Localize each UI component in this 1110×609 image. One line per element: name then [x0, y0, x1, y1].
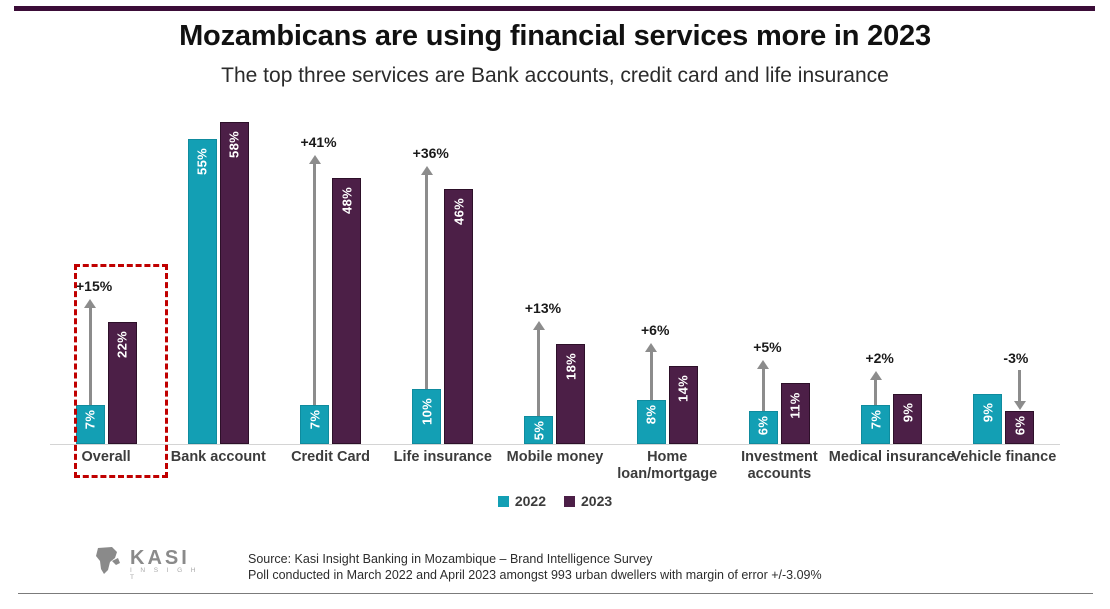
bar-value-label: 18% [563, 353, 578, 380]
bar-value-label: 10% [419, 398, 434, 425]
bar-group: 9%6%-3% [948, 100, 1060, 444]
bar-value-label: 6% [756, 416, 771, 435]
bar-value-label: 7% [83, 410, 98, 429]
bar-value-label: 5% [531, 421, 546, 440]
delta-arrow-shaft [1018, 370, 1021, 401]
bar-group: 55%58% [162, 100, 274, 444]
bar-group: 7%48%+41% [274, 100, 386, 444]
bar-2022[interactable]: 5% [524, 416, 553, 444]
bar-value-label: 58% [227, 131, 242, 158]
delta-arrow-shaft [537, 330, 540, 416]
delta-arrow-head [84, 299, 96, 308]
delta-arrow-shaft [874, 380, 877, 405]
legend-item-2022[interactable]: 2022 [498, 493, 546, 509]
bar-value-label: 14% [676, 375, 691, 402]
bar-value-label: 22% [115, 331, 130, 358]
bar-2022[interactable]: 55% [188, 139, 217, 444]
delta-label: +13% [487, 300, 599, 316]
legend-label-2022: 2022 [515, 493, 546, 509]
delta-arrow-head [1014, 401, 1026, 410]
bar-2023[interactable]: 48% [332, 178, 361, 444]
bar-2023[interactable]: 11% [781, 383, 810, 444]
africa-map-icon [88, 545, 128, 577]
delta-arrow-head [533, 321, 545, 330]
bar-2022[interactable]: 8% [637, 400, 666, 444]
bar-group: 5%18%+13% [499, 100, 611, 444]
delta-arrow-head [421, 166, 433, 175]
bar-2023[interactable]: 22% [108, 322, 137, 444]
bar-2022[interactable]: 6% [749, 411, 778, 444]
x-axis-label: Vehicle finance [938, 449, 1070, 466]
bar-2023[interactable]: 14% [669, 366, 698, 444]
bar-value-label: 9% [980, 403, 995, 422]
bar-value-label: 7% [868, 410, 883, 429]
bar-2023[interactable]: 18% [556, 344, 585, 444]
bar-value-label: 8% [644, 405, 659, 424]
delta-label: +5% [711, 339, 823, 355]
delta-label: +41% [262, 134, 374, 150]
page-title: Mozambicans are using financial services… [0, 20, 1110, 53]
bar-chart-plot-area: 7%22%+15%55%58%7%48%+41%10%46%+36%5%18%+… [50, 100, 1060, 445]
bar-2022[interactable]: 7% [300, 405, 329, 444]
bar-2022[interactable]: 7% [76, 405, 105, 444]
page-subtitle: The top three services are Bank accounts… [0, 64, 1110, 88]
bar-value-label: 11% [788, 392, 803, 418]
bar-2023[interactable]: 6% [1005, 411, 1034, 444]
delta-label: -3% [960, 350, 1072, 366]
bar-2023[interactable]: 58% [220, 122, 249, 444]
legend-label-2023: 2023 [581, 493, 612, 509]
delta-label: +36% [375, 145, 487, 161]
bar-group: 7%22%+15% [50, 100, 162, 444]
source-line-1: Source: Kasi Insight Banking in Mozambiq… [248, 551, 822, 567]
bar-value-label: 55% [195, 148, 210, 175]
bar-2022[interactable]: 7% [861, 405, 890, 444]
bar-2023[interactable]: 46% [444, 189, 473, 444]
legend-swatch-2022 [498, 496, 509, 507]
bar-group: 7%9%+2% [836, 100, 948, 444]
delta-arrow-shaft [313, 164, 316, 405]
legend-swatch-2023 [564, 496, 575, 507]
chart-legend: 2022 2023 [0, 493, 1110, 509]
source-line-2: Poll conducted in March 2022 and April 2… [248, 567, 822, 583]
bar-value-label: 46% [451, 198, 466, 225]
source-note: Source: Kasi Insight Banking in Mozambiq… [248, 551, 822, 583]
kasi-insight-logo: KASI I N S I G H T [88, 545, 208, 581]
delta-arrow-shaft [425, 175, 428, 389]
bar-group: 6%11%+5% [723, 100, 835, 444]
delta-arrow-shaft [762, 369, 765, 411]
delta-arrow-head [870, 371, 882, 380]
delta-label: +15% [38, 278, 150, 294]
delta-arrow-shaft [89, 308, 92, 405]
delta-label: +2% [824, 350, 936, 366]
delta-label: +6% [599, 322, 711, 338]
bar-value-label: 9% [900, 403, 915, 422]
delta-arrow-head [645, 343, 657, 352]
delta-arrow-head [309, 155, 321, 164]
bar-value-label: 7% [307, 410, 322, 429]
bottom-rule [18, 593, 1093, 594]
top-accent-rule [14, 6, 1095, 11]
logo-tagline: I N S I G H T [130, 567, 208, 581]
bar-value-label: 6% [1012, 416, 1027, 435]
legend-item-2023[interactable]: 2023 [564, 493, 612, 509]
bar-value-label: 48% [339, 187, 354, 214]
axis-baseline [50, 444, 1060, 445]
bar-group: 10%46%+36% [387, 100, 499, 444]
bar-2023[interactable]: 9% [893, 394, 922, 444]
bar-2022[interactable]: 10% [412, 389, 441, 444]
bar-2022[interactable]: 9% [973, 394, 1002, 444]
delta-arrow-head [757, 360, 769, 369]
delta-arrow-shaft [650, 352, 653, 400]
bar-group: 8%14%+6% [611, 100, 723, 444]
